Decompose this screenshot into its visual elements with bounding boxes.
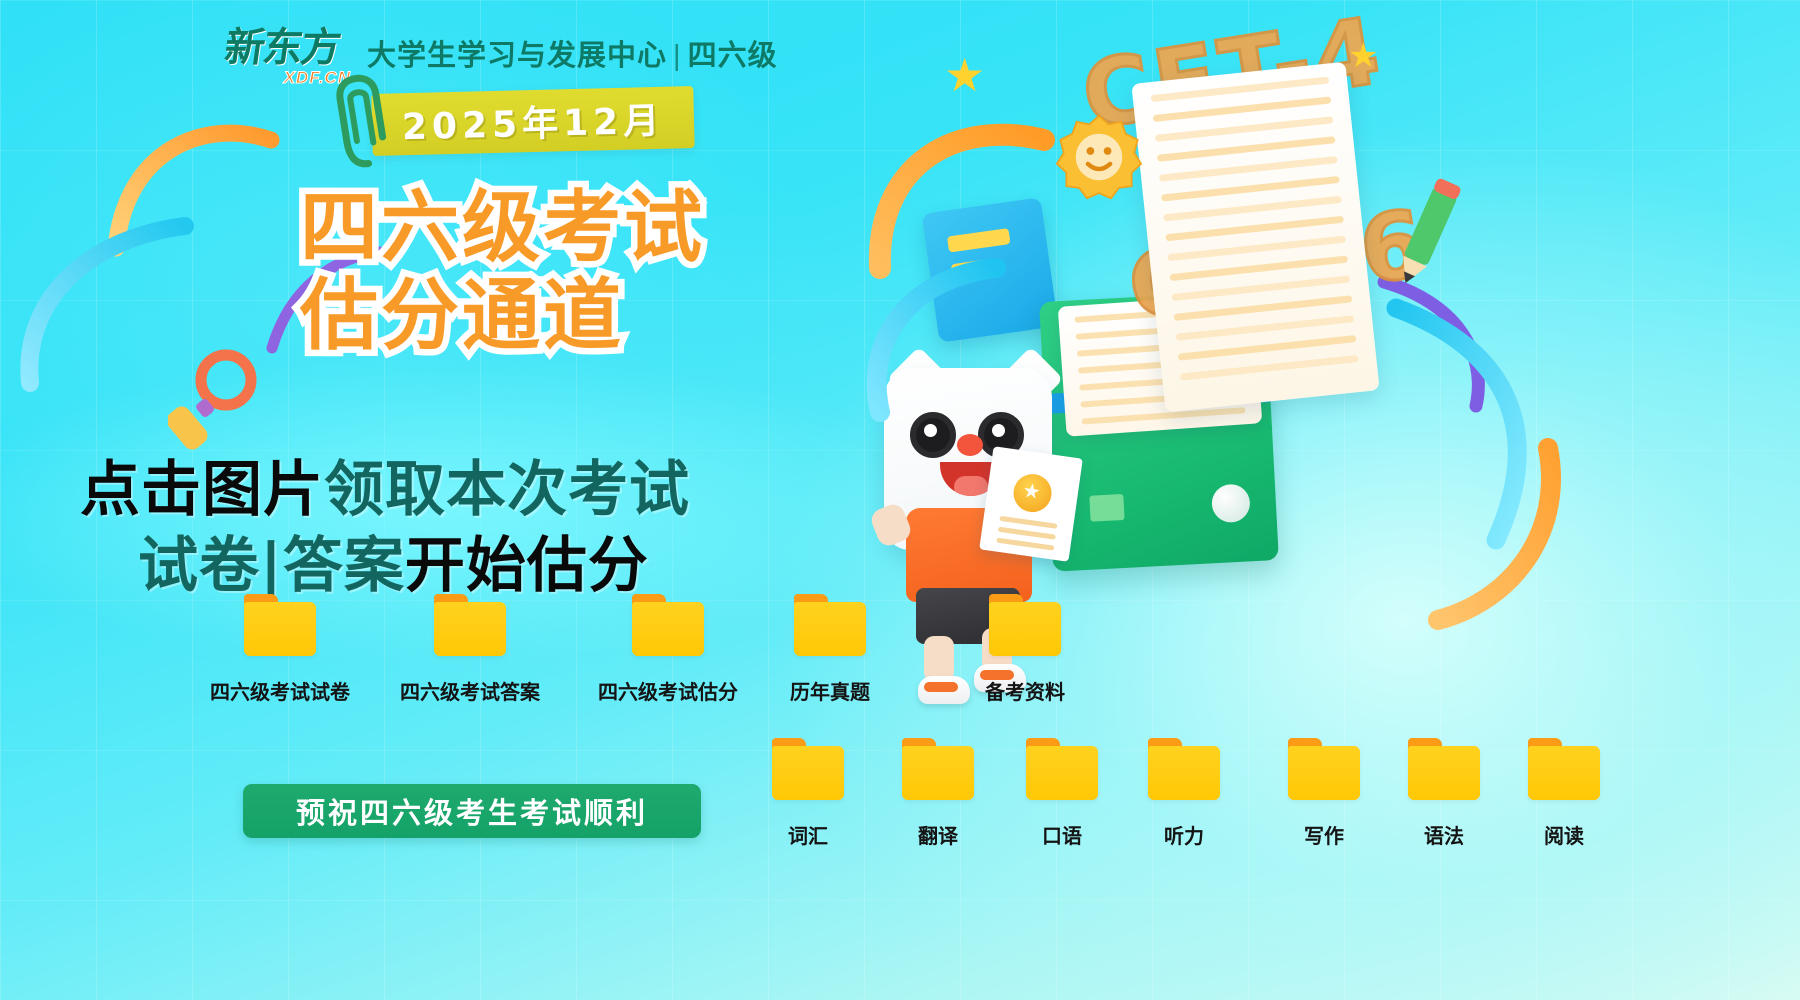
folder-label: 翻译	[918, 820, 958, 849]
poster-canvas: CET-4 CET-6	[0, 0, 1800, 1000]
certificate-illustration	[979, 446, 1083, 562]
star-icon-2: ★	[1348, 36, 1378, 76]
folder-item-reading[interactable]: 阅读	[1528, 738, 1600, 849]
folder-label: 口语	[1042, 820, 1082, 849]
folder-icon	[1026, 738, 1098, 800]
folder-icon	[434, 594, 506, 656]
smiley-seal-icon	[1056, 114, 1142, 200]
subheadline-line-1: 点击图片领取本次考试	[80, 452, 690, 528]
folder-item-exam-paper[interactable]: 四六级考试试卷	[210, 594, 350, 705]
folder-icon	[794, 594, 866, 656]
paperclip-icon	[333, 71, 391, 173]
folder-icon	[1408, 738, 1480, 800]
folder-icon	[1528, 738, 1600, 800]
folder-label: 阅读	[1544, 820, 1584, 849]
folder-label: 四六级考试估分	[598, 676, 738, 705]
folder-item-vocabulary[interactable]: 词汇	[772, 738, 844, 849]
main-title-line-2: 估分通道	[300, 274, 705, 358]
swoosh-orange-right	[1424, 430, 1604, 640]
folder-item-speaking[interactable]: 口语	[1026, 738, 1098, 849]
folder-item-grammar[interactable]: 语法	[1408, 738, 1480, 849]
folder-icon	[1288, 738, 1360, 800]
swoosh-blue-right	[1376, 290, 1566, 560]
mascot-nose	[957, 434, 983, 456]
mascot-shoe-left	[918, 676, 970, 704]
folder-item-listening[interactable]: 听力	[1148, 738, 1220, 849]
brand-separator: |	[667, 40, 688, 72]
folder-item-past-papers[interactable]: 历年真题	[790, 594, 870, 705]
folder-icon	[632, 594, 704, 656]
blue-book-illustration	[922, 197, 1059, 342]
xdf-logo[interactable]: 新东方 XDF.CN	[225, 28, 353, 84]
brand-title: 大学生学习与发展中心|四六级	[367, 28, 778, 84]
magnifier-icon	[168, 348, 264, 458]
subheadline-2-black: 开始估分	[405, 531, 649, 601]
folder-item-answers[interactable]: 四六级考试答案	[400, 594, 540, 705]
folder-icon	[244, 594, 316, 656]
exam-paper-illustration	[1131, 62, 1379, 413]
main-title-line-1: 四六级考试	[300, 186, 705, 270]
folder-item-prep-materials[interactable]: 备考资料	[985, 594, 1065, 705]
mascot-eye-left	[910, 412, 956, 458]
folder-icon	[772, 738, 844, 800]
folder-label: 四六级考试试卷	[210, 676, 350, 705]
folder-label: 听力	[1164, 820, 1204, 849]
subheadline-1-black: 点击图片	[80, 455, 324, 525]
folder-label: 四六级考试答案	[400, 676, 540, 705]
xdf-logo-cn: 新东方	[222, 28, 356, 68]
brand-header: 新东方 XDF.CN 大学生学习与发展中心|四六级	[225, 28, 778, 84]
main-title: 四六级考试 估分通道	[300, 186, 705, 358]
org-name: 大学生学习与发展中心	[367, 40, 667, 72]
swoosh-orange-left	[96, 78, 296, 288]
subheadline-line-2: 试卷|答案开始估分	[80, 528, 690, 604]
folder-label: 写作	[1304, 820, 1344, 849]
folder-icon	[989, 594, 1061, 656]
folder-label: 历年真题	[790, 676, 870, 705]
brand-category: 四六级	[688, 40, 778, 72]
date-badge-text: 2025年12月	[371, 86, 694, 156]
folder-label: 备考资料	[985, 676, 1065, 705]
star-icon-1: ★	[944, 48, 985, 102]
folder-label: 词汇	[788, 820, 828, 849]
folder-icon	[1148, 738, 1220, 800]
folder-item-writing[interactable]: 写作	[1288, 738, 1360, 849]
subheadline: 点击图片领取本次考试 试卷|答案开始估分	[80, 452, 690, 604]
subheadline-1-teal: 领取本次考试	[324, 455, 690, 525]
folder-label: 语法	[1424, 820, 1464, 849]
folder-item-translation[interactable]: 翻译	[902, 738, 974, 849]
subheadline-2-teal: 试卷|答案	[138, 531, 405, 601]
folder-item-score-estimate[interactable]: 四六级考试估分	[598, 594, 738, 705]
wish-button[interactable]: 预祝四六级考生考试顺利	[243, 784, 701, 838]
folder-icon	[902, 738, 974, 800]
